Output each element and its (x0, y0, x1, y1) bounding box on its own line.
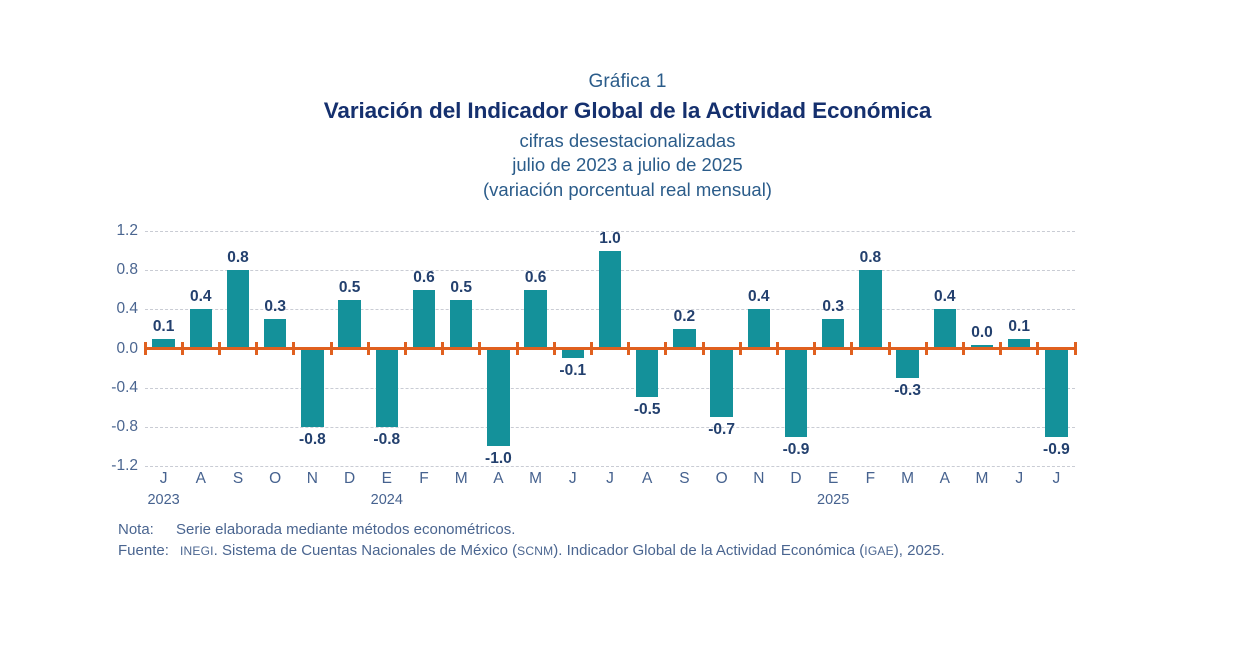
axis-tick-mark (850, 342, 853, 355)
note-text: Serie elaborada mediante métodos economé… (176, 521, 515, 538)
note-label: Nota: (118, 519, 176, 540)
bar (710, 349, 732, 418)
bar (376, 349, 398, 427)
x-axis-tick-label: M (529, 470, 542, 488)
axis-tick-mark (516, 342, 519, 355)
axis-tick-mark (292, 342, 295, 355)
bar-value-label: 0.0 (963, 324, 1000, 342)
axis-tick-mark (962, 342, 965, 355)
axis-tick-mark (404, 342, 407, 355)
x-axis-tick-label: J (606, 470, 614, 488)
axis-tick-mark (925, 342, 928, 355)
bar (785, 349, 807, 437)
x-axis-tick-label: N (753, 470, 764, 488)
x-axis-labels: JASONDEFMAMJJASONDEFMAMJJ202320242025 (145, 470, 1075, 520)
bar-value-label: -0.3 (889, 382, 926, 400)
source-part-f: ), 2025. (894, 542, 945, 559)
x-axis-year-label: 2024 (371, 492, 403, 508)
x-axis-tick-label: A (196, 470, 206, 488)
x-axis-tick-label: M (901, 470, 914, 488)
bar-value-label: -0.9 (1038, 441, 1075, 459)
bar-value-label: 0.3 (257, 298, 294, 316)
source-scnm: SCNM (517, 544, 553, 558)
y-axis-tick-label: 0.8 (116, 261, 138, 279)
source-part-b: . Sistema de Cuentas Nacionales de Méxic… (214, 542, 517, 559)
x-axis-tick-label: S (233, 470, 243, 488)
chart-subtitle-2: julio de 2023 a julio de 2025 (0, 156, 1255, 175)
bar (822, 319, 844, 348)
source-label: Fuente: (118, 540, 180, 561)
bar (413, 290, 435, 349)
bar (450, 300, 472, 349)
bar-value-label: -0.5 (629, 401, 666, 419)
bar (1045, 349, 1067, 437)
axis-tick-mark (218, 342, 221, 355)
figure-number: Gráfica 1 (0, 72, 1255, 91)
axis-tick-mark (776, 342, 779, 355)
x-axis-tick-label: O (716, 470, 728, 488)
y-axis-tick-label: -0.4 (111, 379, 138, 397)
x-axis-tick-label: A (940, 470, 950, 488)
bar (524, 290, 546, 349)
bar (636, 349, 658, 398)
gridline (145, 466, 1075, 467)
source-row: Fuente:INEGI. Sistema de Cuentas Naciona… (118, 540, 1218, 561)
bar (227, 270, 249, 348)
x-axis-tick-label: F (419, 470, 428, 488)
bar-value-label: 0.4 (740, 288, 777, 306)
bar (748, 309, 770, 348)
axis-tick-mark (441, 342, 444, 355)
bar-value-label: 0.6 (517, 269, 554, 287)
bar (859, 270, 881, 348)
y-axis-labels: 1.20.80.40.0-0.4-0.8-1.2 (108, 231, 138, 466)
axis-tick-mark (664, 342, 667, 355)
bar-value-label: -0.8 (368, 431, 405, 449)
bar (673, 329, 695, 349)
x-axis-year-label: 2023 (147, 492, 179, 508)
bar (599, 251, 621, 349)
source-inegi: INEGI (180, 544, 214, 558)
bar-value-label: 0.3 (815, 298, 852, 316)
bar (896, 349, 918, 378)
note-row: Nota:Serie elaborada mediante métodos ec… (118, 519, 1218, 540)
axis-tick-mark (181, 342, 184, 355)
x-axis-tick-label: J (160, 470, 168, 488)
bar-value-label: -1.0 (480, 450, 517, 468)
axis-tick-mark (702, 342, 705, 355)
axis-tick-mark (255, 342, 258, 355)
x-axis-tick-label: D (344, 470, 355, 488)
chart-subtitle-3: (variación porcentual real mensual) (0, 181, 1255, 200)
axis-tick-mark (813, 342, 816, 355)
zero-baseline (145, 347, 1075, 350)
bar (264, 319, 286, 348)
bar-value-label: -0.7 (703, 421, 740, 439)
x-axis-tick-label: M (976, 470, 989, 488)
bar-value-label: 0.2 (666, 308, 703, 326)
axis-tick-mark (999, 342, 1002, 355)
x-axis-tick-label: J (569, 470, 577, 488)
x-axis-tick-label: O (269, 470, 281, 488)
x-axis-tick-label: J (1053, 470, 1061, 488)
axis-tick-mark (888, 342, 891, 355)
x-axis-tick-label: A (493, 470, 503, 488)
x-axis-year-label: 2025 (817, 492, 849, 508)
x-axis-tick-label: F (866, 470, 875, 488)
bar (934, 309, 956, 348)
plot-area: 0.10.40.80.3-0.80.5-0.80.60.5-1.00.6-0.1… (145, 231, 1075, 466)
x-axis-tick-label: J (1015, 470, 1023, 488)
axis-tick-mark (478, 342, 481, 355)
axis-tick-mark (627, 342, 630, 355)
bar-value-label: 0.5 (331, 279, 368, 297)
chart-header: Gráfica 1 Variación del Indicador Global… (0, 72, 1255, 199)
chart-subtitle-1: cifras desestacionalizadas (0, 132, 1255, 151)
x-axis-tick-label: S (679, 470, 689, 488)
axis-tick-mark (739, 342, 742, 355)
footnotes: Nota:Serie elaborada mediante métodos ec… (118, 519, 1218, 562)
x-axis-tick-label: E (828, 470, 838, 488)
axis-tick-mark (553, 342, 556, 355)
chart-title: Variación del Indicador Global de la Act… (0, 100, 1255, 123)
axis-tick-mark (1074, 342, 1077, 355)
bar-value-label: 0.6 (405, 269, 442, 287)
axis-tick-mark (367, 342, 370, 355)
bar-value-label: 0.5 (443, 279, 480, 297)
y-axis-tick-label: 0.0 (116, 340, 138, 358)
x-axis-tick-label: M (455, 470, 468, 488)
gridline (145, 427, 1075, 428)
axis-tick-mark (590, 342, 593, 355)
x-axis-tick-label: D (790, 470, 801, 488)
bar-value-label: -0.9 (777, 441, 814, 459)
bar-value-label: 1.0 (591, 230, 628, 248)
source-part-d: ). Indicador Global de la Actividad Econ… (553, 542, 864, 559)
bar-value-label: 0.1 (145, 318, 182, 336)
chart-figure: Gráfica 1 Variación del Indicador Global… (0, 0, 1255, 669)
bar (338, 300, 360, 349)
source-igae: IGAE (864, 544, 893, 558)
bar (301, 349, 323, 427)
x-axis-tick-label: A (642, 470, 652, 488)
bar-value-label: 0.8 (852, 249, 889, 267)
bar (190, 309, 212, 348)
x-axis-tick-label: N (307, 470, 318, 488)
bar-value-label: 0.4 (926, 288, 963, 306)
bar-value-label: 0.1 (1001, 318, 1038, 336)
bar-value-label: -0.8 (294, 431, 331, 449)
axis-tick-mark (1036, 342, 1039, 355)
bar-value-label: -0.1 (554, 362, 591, 380)
bar (487, 349, 509, 447)
y-axis-tick-label: 0.4 (116, 300, 138, 318)
bar-value-label: 0.8 (219, 249, 256, 267)
gridline (145, 388, 1075, 389)
x-axis-tick-label: E (382, 470, 392, 488)
bar-value-label: 0.4 (182, 288, 219, 306)
axis-tick-mark (144, 342, 147, 355)
axis-tick-mark (330, 342, 333, 355)
y-axis-tick-label: -1.2 (111, 457, 138, 475)
y-axis-tick-label: 1.2 (116, 222, 138, 240)
y-axis-tick-label: -0.8 (111, 418, 138, 436)
